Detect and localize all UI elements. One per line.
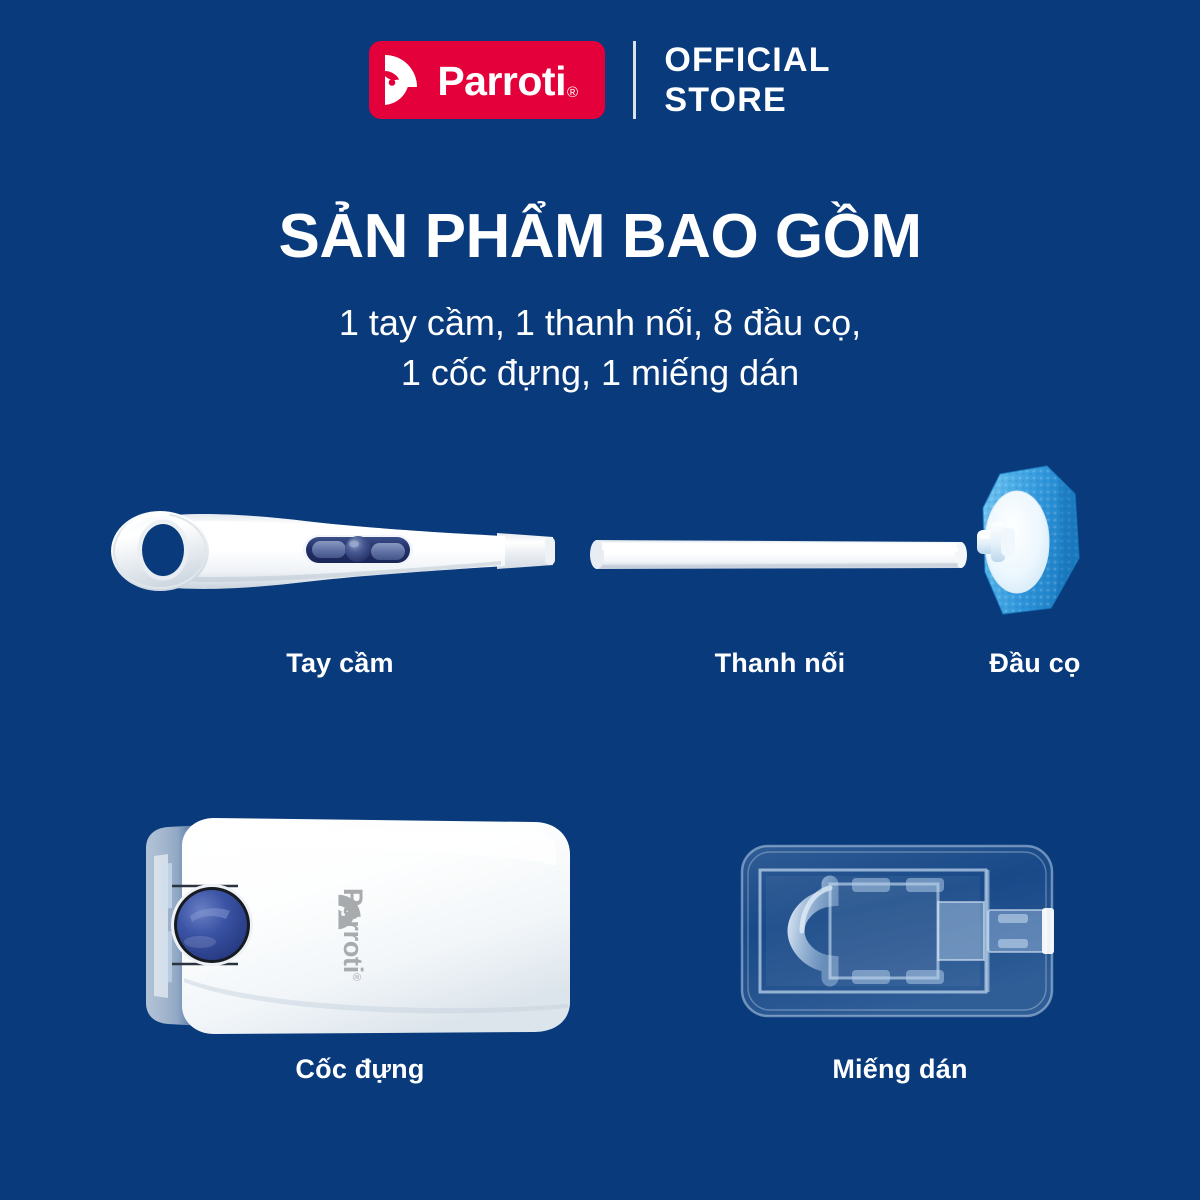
registered-mark: ®: [567, 84, 578, 101]
brand-header: Parroti® OFFICIAL STORE: [0, 30, 1200, 130]
subtitle-line-2: 1 cốc đựng, 1 miếng dán: [0, 348, 1200, 398]
label-cup: Cốc đựng: [200, 1054, 520, 1085]
product-adhesive-mount: [726, 836, 1076, 1026]
official-store-line1: OFFICIAL: [664, 40, 830, 80]
parroti-logo-badge: Parroti®: [369, 41, 605, 119]
label-rod: Thanh nối: [620, 648, 940, 679]
page-title: SẢN PHẨM BAO GỒM: [0, 204, 1200, 269]
parrot-head-icon: [383, 54, 429, 106]
adhesive-mount-icon: [726, 836, 1076, 1026]
product-storage-cup: [138, 812, 578, 1040]
subtitle-line-1: 1 tay cầm, 1 thanh nối, 8 đầu cọ,: [0, 298, 1200, 348]
handle-button-panel: [303, 535, 413, 565]
product-handle: [105, 495, 575, 605]
storage-cup-icon: [138, 812, 578, 1040]
brand-divider: [633, 41, 636, 119]
handle-icon: [105, 495, 575, 605]
page-subtitle: 1 tay cầm, 1 thanh nối, 8 đầu cọ, 1 cốc …: [0, 298, 1200, 397]
product-includes-infographic: Parroti® OFFICIAL STORE SẢN PHẨM BAO GỒM…: [0, 0, 1200, 1200]
parroti-wordmark: Parroti®: [437, 61, 576, 102]
official-store-label: OFFICIAL STORE: [664, 40, 830, 120]
product-brush-head: [955, 462, 1090, 622]
extension-rod-icon: [590, 528, 985, 580]
product-extension-rod: [590, 528, 985, 580]
brush-stem: [977, 522, 1015, 562]
brush-head-icon: [955, 462, 1090, 622]
sticker-pull-tab: [988, 908, 1054, 954]
label-sticker: Miếng dán: [740, 1054, 1060, 1085]
label-brush: Đầu cọ: [905, 648, 1165, 679]
label-handle: Tay cầm: [180, 648, 500, 679]
official-store-line2: STORE: [664, 80, 830, 120]
cup-button: [171, 884, 253, 966]
